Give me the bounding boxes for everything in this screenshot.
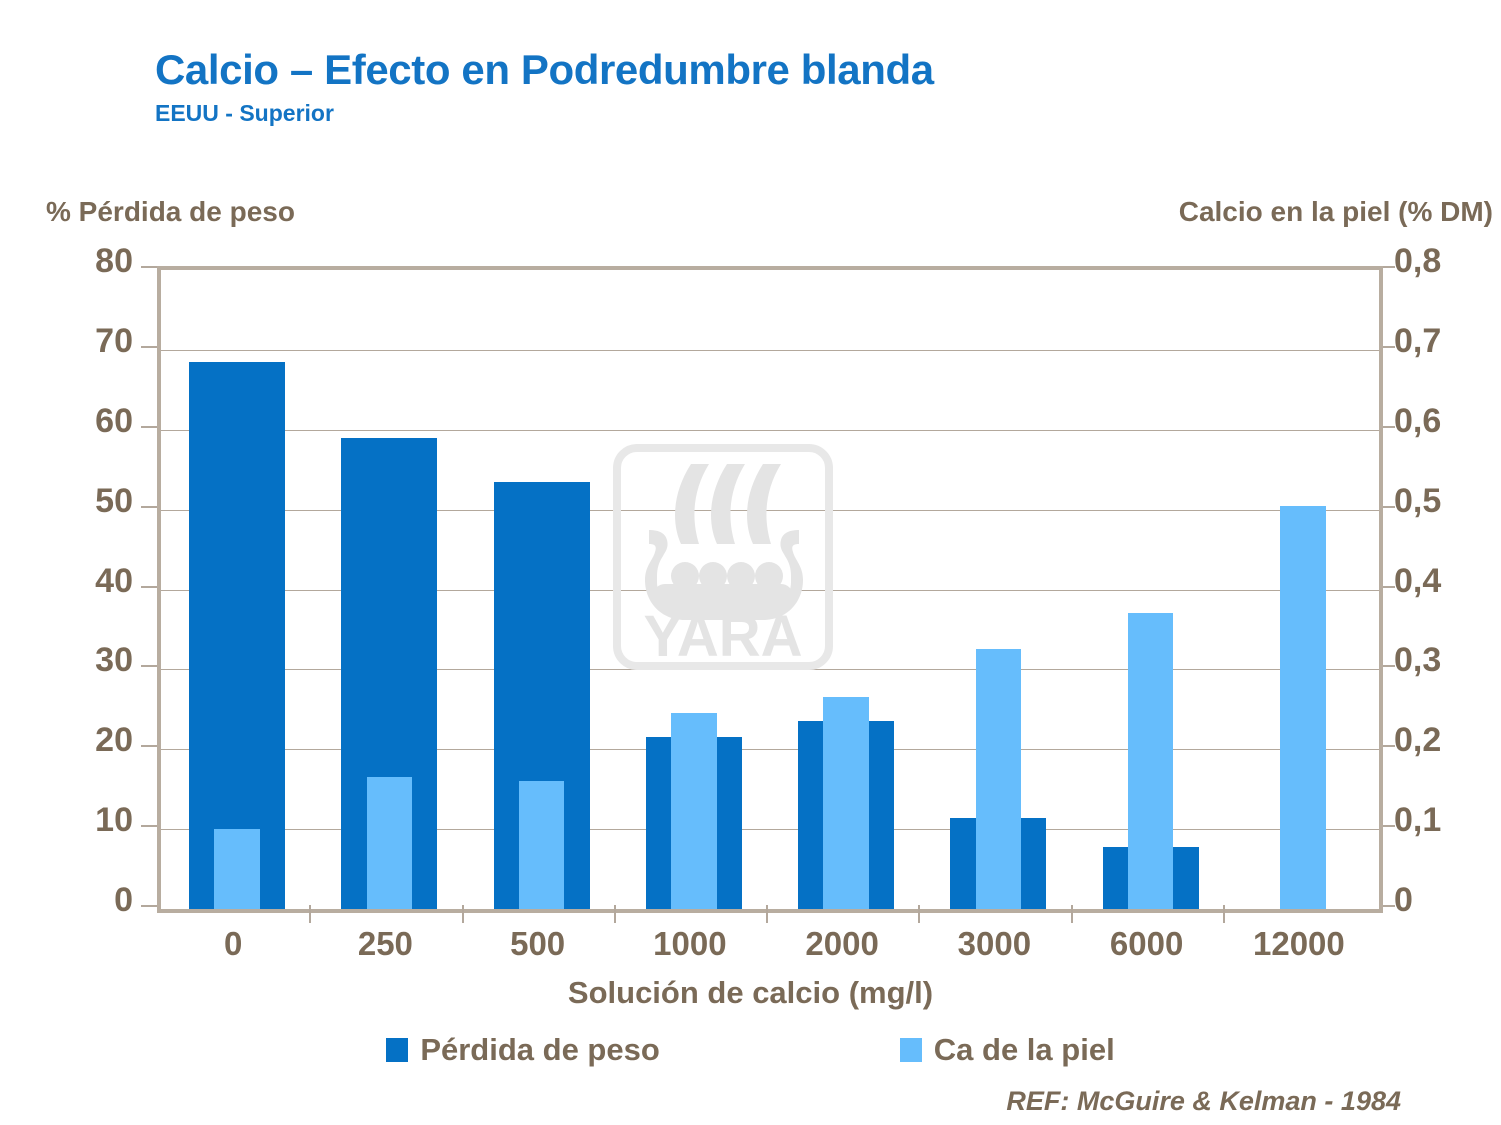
legend-label: Ca de la piel xyxy=(934,1032,1115,1068)
bar-ca-de-la-piel xyxy=(1280,506,1326,909)
right-axis-tick-label: 0,7 xyxy=(1394,322,1501,361)
left-axis-tick-mark xyxy=(141,825,157,827)
title-block: Calcio – Efecto en Podredumbre blanda EE… xyxy=(155,48,934,127)
x-axis-tick-mark xyxy=(918,905,920,923)
left-axis-tick-label: 30 xyxy=(23,641,133,680)
legend-label: Pérdida de peso xyxy=(420,1032,659,1068)
plot-area: YARA xyxy=(157,266,1383,913)
left-axis-tick-mark xyxy=(141,586,157,588)
bar-ca-de-la-piel xyxy=(367,777,413,909)
x-axis-tick-mark xyxy=(309,905,311,923)
x-axis-tick-mark xyxy=(462,905,464,923)
left-axis-tick-label: 40 xyxy=(23,562,133,601)
left-axis-tick-mark xyxy=(141,506,157,508)
page-title: Calcio – Efecto en Podredumbre blanda xyxy=(155,48,934,92)
bar-ca-de-la-piel xyxy=(519,781,565,909)
legend-swatch-icon xyxy=(900,1038,922,1062)
legend-item[interactable]: Pérdida de peso xyxy=(386,1032,659,1068)
x-axis-tick-mark xyxy=(1071,905,1073,923)
plot-inner: YARA xyxy=(161,270,1379,909)
left-axis-tick-mark xyxy=(141,426,157,428)
svg-text:YARA: YARA xyxy=(643,604,802,669)
left-axis-tick-label: 50 xyxy=(23,482,133,521)
right-axis-tick-label: 0,2 xyxy=(1394,721,1501,760)
left-axis-tick-mark xyxy=(141,346,157,348)
left-axis-tick-label: 10 xyxy=(23,801,133,840)
x-axis-tick-label: 250 xyxy=(309,925,461,963)
right-axis-tick-label: 0,8 xyxy=(1394,242,1501,281)
x-axis-tick-label: 6000 xyxy=(1071,925,1223,963)
left-axis-tick-label: 20 xyxy=(23,721,133,760)
gridline xyxy=(161,350,1379,351)
bar-ca-de-la-piel xyxy=(214,829,260,909)
x-axis-tick-label: 3000 xyxy=(918,925,1070,963)
x-axis-tick-label: 1000 xyxy=(614,925,766,963)
bar-ca-de-la-piel xyxy=(976,649,1022,909)
left-axis-tick-mark xyxy=(141,905,157,907)
right-axis-tick-label: 0,6 xyxy=(1394,402,1501,441)
x-axis-tick-label: 2000 xyxy=(766,925,918,963)
x-axis-tick-label: 12000 xyxy=(1223,925,1375,963)
left-axis-tick-label: 60 xyxy=(23,402,133,441)
bar-ca-de-la-piel xyxy=(1128,613,1174,909)
reference-note: REF: McGuire & Kelman - 1984 xyxy=(1006,1086,1401,1117)
right-axis-tick-label: 0,1 xyxy=(1394,801,1501,840)
x-axis-tick-mark xyxy=(614,905,616,923)
left-axis-tick-label: 70 xyxy=(23,322,133,361)
left-axis-tick-label: 80 xyxy=(23,242,133,281)
page-subtitle: EEUU - Superior xyxy=(155,100,934,127)
left-axis-tick-mark xyxy=(141,266,157,268)
yara-logo-watermark: YARA xyxy=(613,444,833,670)
bar-ca-de-la-piel xyxy=(671,713,717,909)
bar-ca-de-la-piel xyxy=(823,697,869,909)
legend-swatch-icon xyxy=(386,1038,408,1062)
right-axis-tick-label: 0 xyxy=(1394,881,1501,920)
right-axis-tick-label: 0,5 xyxy=(1394,482,1501,521)
x-axis-tick-label: 0 xyxy=(157,925,309,963)
x-axis-tick-mark xyxy=(766,905,768,923)
bar-perdida-de-peso xyxy=(189,362,285,909)
left-axis-title: % Pérdida de peso xyxy=(46,196,295,228)
right-axis-tick-label: 0,3 xyxy=(1394,641,1501,680)
gridline xyxy=(161,430,1379,431)
legend-item[interactable]: Ca de la piel xyxy=(900,1032,1115,1068)
left-axis-tick-label: 0 xyxy=(23,881,133,920)
x-axis-tick-mark xyxy=(1223,905,1225,923)
left-axis-tick-mark xyxy=(141,665,157,667)
x-axis-tick-label: 500 xyxy=(462,925,614,963)
left-axis-tick-mark xyxy=(141,745,157,747)
right-axis-title: Calcio en la piel (% DM) xyxy=(1179,196,1493,228)
right-axis-tick-label: 0,4 xyxy=(1394,562,1501,601)
x-axis-title: Solución de calcio (mg/l) xyxy=(0,975,1501,1011)
legend: Pérdida de pesoCa de la piel xyxy=(0,1032,1501,1068)
